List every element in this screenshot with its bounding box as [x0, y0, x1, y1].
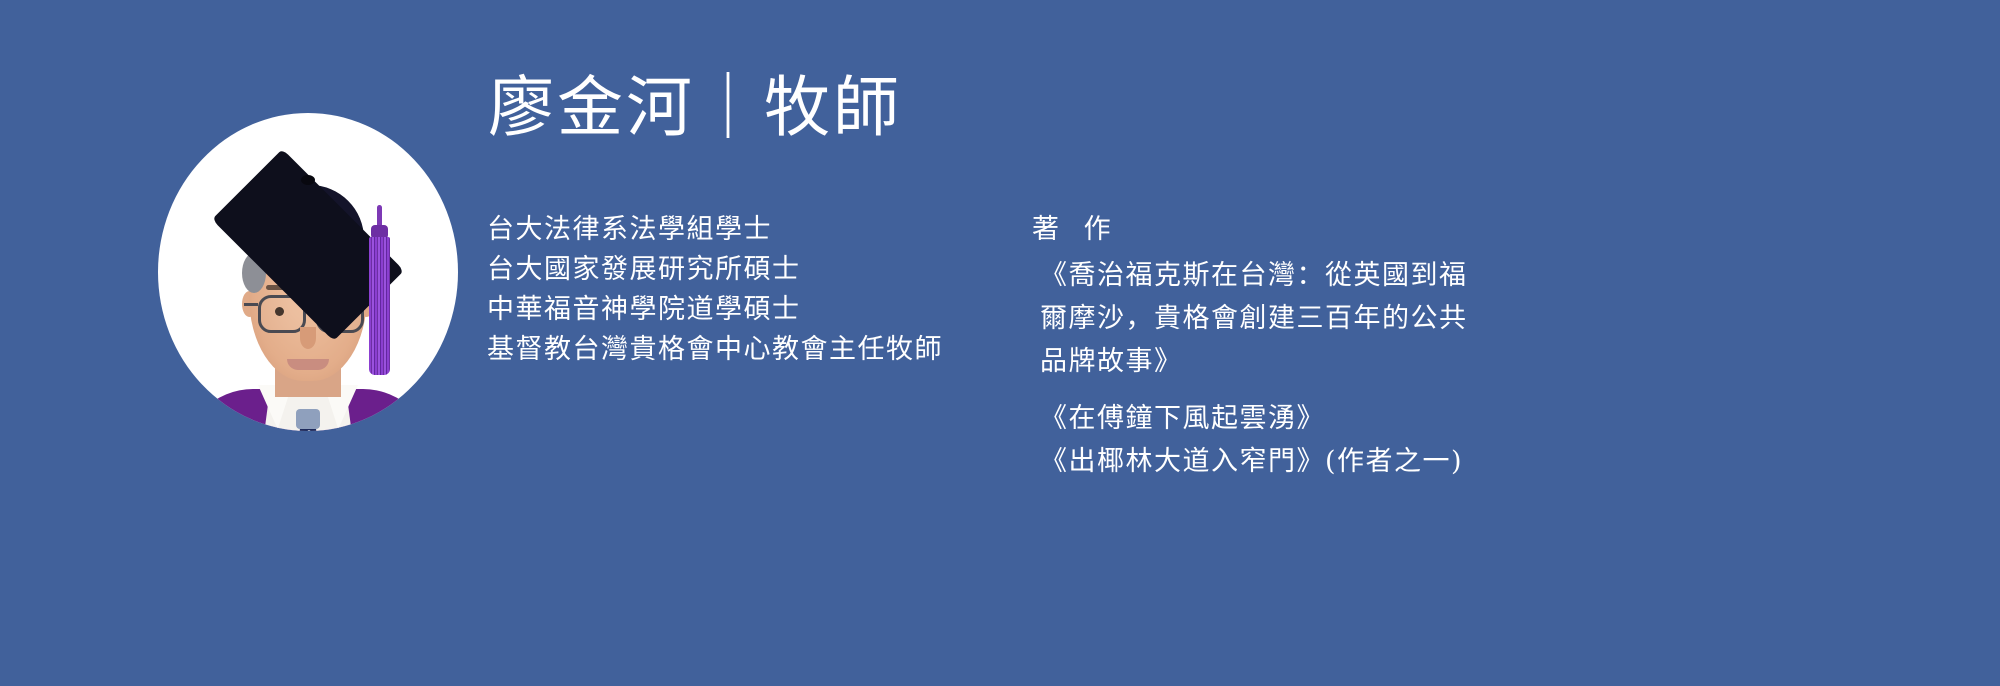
- list-item: 中華福音神學院道學碩士: [487, 290, 1007, 330]
- eyeglasses-temple-left: [244, 303, 258, 306]
- mortarboard-button: [301, 175, 315, 185]
- speaker-profile-banner: 廖金河｜牧師 台大法律系法學組學士 台大國家發展研究所碩士 中華福音神學院道學碩…: [0, 0, 2000, 686]
- credentials-list: 台大法律系法學組學士 台大國家發展研究所碩士 中華福音神學院道學碩士 基督教台灣…: [487, 210, 1007, 370]
- publications-heading: 著 作: [1032, 210, 1592, 250]
- list-item: 《出椰林大道入窄門》(作者之一): [1040, 440, 1592, 483]
- list-item: 台大法律系法學組學士: [487, 210, 1007, 250]
- list-item: 《喬治福克斯在台灣：從英國到福爾摩沙，貴格會創建三百年的公共品牌故事》: [1040, 254, 1472, 383]
- portrait-photo: [158, 113, 458, 431]
- necktie-knot: [296, 409, 320, 429]
- publications-section: 著 作 《喬治福克斯在台灣：從英國到福爾摩沙，貴格會創建三百年的公共品牌故事》 …: [1032, 210, 1592, 483]
- tassel-icon: [369, 237, 390, 375]
- mouth: [287, 359, 329, 370]
- avatar: [158, 113, 458, 431]
- list-item: 台大國家發展研究所碩士: [487, 250, 1007, 290]
- list-item: 《在傅鐘下風起雲湧》: [1040, 397, 1592, 440]
- list-item: 基督教台灣貴格會中心教會主任牧師: [487, 330, 1007, 370]
- page-title: 廖金河｜牧師: [488, 72, 902, 145]
- nose: [300, 327, 316, 349]
